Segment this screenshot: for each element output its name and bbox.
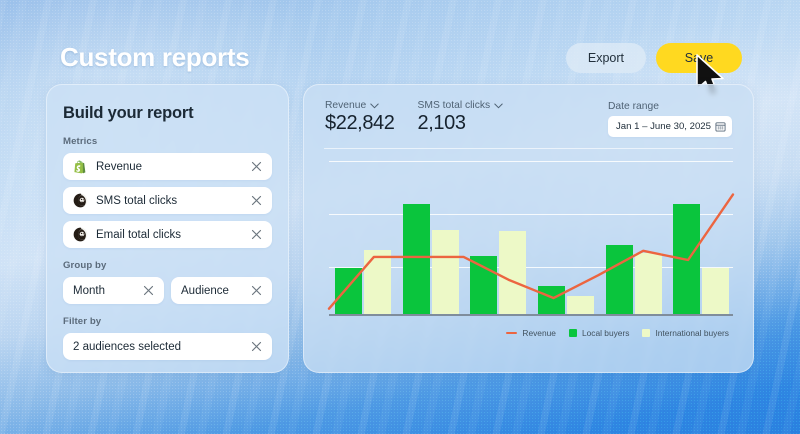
legend-label: Revenue bbox=[522, 328, 556, 338]
metric-pill-sms-total-clicks[interactable]: SMS total clicks bbox=[63, 187, 272, 214]
report-preview-card: Revenue $22,842 SMS total clicks 2,103 bbox=[303, 84, 754, 373]
metrics-section-label: Metrics bbox=[63, 136, 272, 147]
summary-metric-label: SMS total clicks bbox=[418, 100, 491, 111]
filter-by-label: 2 audiences selected bbox=[73, 341, 244, 353]
metric-row-sms-total-clicks: SMS total clicks bbox=[63, 187, 272, 214]
close-icon[interactable] bbox=[250, 194, 263, 207]
legend-item: Local buyers bbox=[569, 328, 630, 338]
legend-label: Local buyers bbox=[582, 328, 630, 338]
filter-by-row: 2 audiences selected bbox=[63, 333, 272, 360]
chart-baseline bbox=[329, 314, 733, 316]
chart-area: RevenueLocal buyersInternational buyers bbox=[324, 149, 733, 341]
summary-metric-sms-total-clicks[interactable]: SMS total clicks 2,103 bbox=[418, 100, 504, 135]
metric-row-revenue: Revenue bbox=[63, 153, 272, 180]
save-button[interactable]: Save bbox=[656, 43, 742, 73]
summary-metric-name: SMS total clicks bbox=[418, 100, 504, 111]
date-range-block: Date range Jan 1 – June 30, 2025 bbox=[608, 101, 732, 137]
chevron-down-icon[interactable] bbox=[494, 103, 503, 109]
page-title: Custom reports bbox=[60, 42, 249, 73]
metric-row-email-total-clicks: Email total clicks bbox=[63, 221, 272, 248]
group-by-label: Audience bbox=[181, 285, 244, 297]
export-button[interactable]: Export bbox=[566, 43, 646, 73]
build-report-title: Build your report bbox=[63, 104, 272, 123]
mailchimp-monkey-icon bbox=[73, 227, 88, 242]
group-by-pill-month[interactable]: Month bbox=[63, 277, 164, 304]
chart-plot bbox=[329, 161, 733, 316]
summary-metric-name: Revenue bbox=[325, 100, 395, 111]
date-range-value: Jan 1 – June 30, 2025 bbox=[616, 121, 715, 132]
chart-legend: RevenueLocal buyersInternational buyers bbox=[506, 328, 729, 338]
close-icon[interactable] bbox=[250, 340, 263, 353]
summary-metric-value: 2,103 bbox=[418, 112, 504, 135]
legend-swatch bbox=[506, 332, 517, 335]
filter-by-pill-audiences[interactable]: 2 audiences selected bbox=[63, 333, 272, 360]
date-range-input[interactable]: Jan 1 – June 30, 2025 bbox=[608, 116, 732, 137]
calendar-icon[interactable] bbox=[715, 121, 726, 132]
summary-metric-revenue[interactable]: Revenue $22,842 bbox=[325, 100, 395, 135]
build-report-card: Build your report Metrics Revenue bbox=[46, 84, 289, 373]
group-by-label: Month bbox=[73, 285, 136, 297]
legend-label: International buyers bbox=[655, 328, 729, 338]
chart-line-series bbox=[329, 161, 733, 313]
summary-metric-label: Revenue bbox=[325, 100, 366, 111]
legend-item: Revenue bbox=[506, 328, 556, 338]
chart-line-revenue bbox=[329, 195, 733, 309]
preview-header: Revenue $22,842 SMS total clicks 2,103 bbox=[304, 85, 753, 148]
date-range-label: Date range bbox=[608, 101, 732, 112]
metric-pill-email-total-clicks[interactable]: Email total clicks bbox=[63, 221, 272, 248]
shopify-bag-icon bbox=[73, 159, 88, 174]
chevron-down-icon[interactable] bbox=[370, 103, 379, 109]
group-by-pill-audience[interactable]: Audience bbox=[171, 277, 272, 304]
legend-swatch bbox=[642, 329, 650, 337]
close-icon[interactable] bbox=[250, 284, 263, 297]
close-icon[interactable] bbox=[250, 228, 263, 241]
group-by-section-label: Group by bbox=[63, 260, 272, 271]
metric-pill-revenue[interactable]: Revenue bbox=[63, 153, 272, 180]
header-actions: Export Save bbox=[566, 43, 742, 73]
mailchimp-monkey-icon bbox=[73, 193, 88, 208]
filter-by-section-label: Filter by bbox=[63, 316, 272, 327]
summary-metric-value: $22,842 bbox=[325, 112, 395, 135]
close-icon[interactable] bbox=[250, 160, 263, 173]
legend-item: International buyers bbox=[642, 328, 729, 338]
group-by-row: Month Audience bbox=[63, 277, 272, 304]
metric-label: SMS total clicks bbox=[96, 195, 244, 207]
legend-swatch bbox=[569, 329, 577, 337]
metric-label: Revenue bbox=[96, 161, 244, 173]
close-icon[interactable] bbox=[142, 284, 155, 297]
metric-label: Email total clicks bbox=[96, 229, 244, 241]
